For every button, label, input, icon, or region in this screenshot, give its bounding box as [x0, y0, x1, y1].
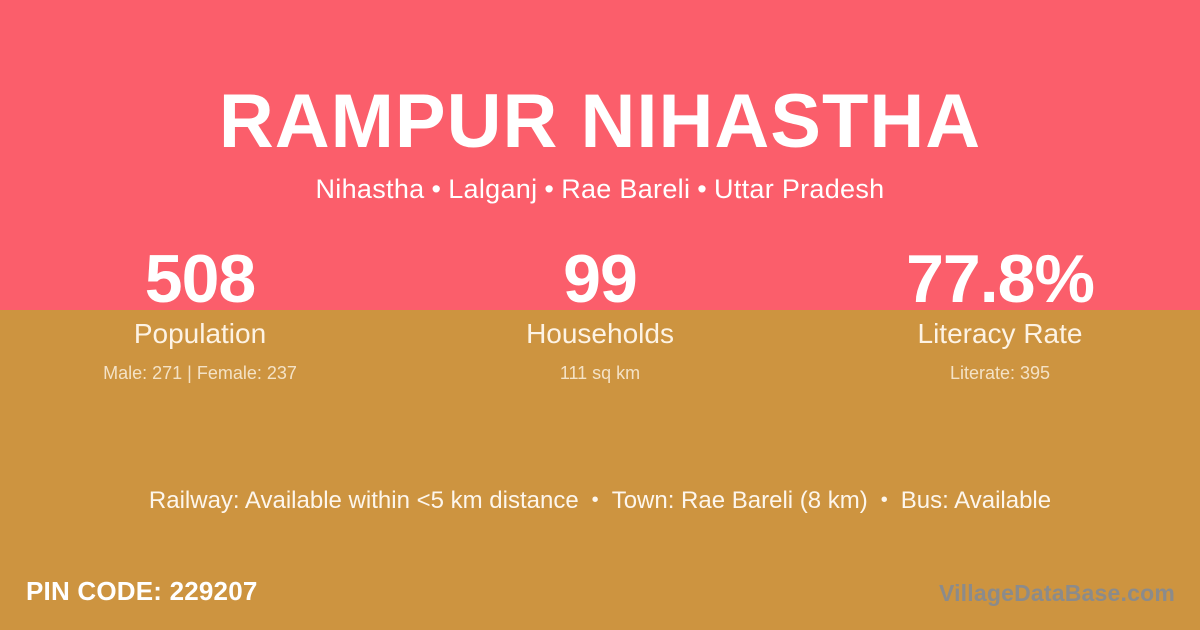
stat-label: Population: [0, 315, 400, 351]
footer: PIN CODE: 229207 VillageDataBase.com: [0, 572, 1200, 630]
site-brand: VillageDataBase.com: [939, 578, 1175, 608]
stat-label: Literacy Rate: [800, 315, 1200, 351]
stat-value: 99: [400, 243, 800, 315]
breadcrumb: Nihastha•Lalganj•Rae Bareli•Uttar Prades…: [0, 160, 1200, 203]
stat-subtext: 111 sq km: [400, 351, 800, 385]
breadcrumb-item-0: Nihastha: [316, 174, 425, 204]
stat-literacy-rate: 77.8% Literacy Rate Literate: 395: [800, 243, 1200, 385]
stats-row: 508 Population Male: 271 | Female: 237 9…: [0, 243, 1200, 385]
stat-value: 508: [0, 243, 400, 315]
bullet-icon: •: [579, 489, 612, 511]
village-info-card: RAMPUR NIHASTHA Nihastha•Lalganj•Rae Bar…: [0, 0, 1200, 630]
bullet-icon: •: [690, 174, 714, 204]
header: RAMPUR NIHASTHA Nihastha•Lalganj•Rae Bar…: [0, 0, 1200, 203]
amenity-bus: Bus: Available: [901, 487, 1051, 514]
amenity-town: Town: Rae Bareli (8 km): [612, 487, 868, 514]
stat-label: Households: [400, 315, 800, 351]
stat-households: 99 Households 111 sq km: [400, 243, 800, 385]
breadcrumb-item-2: Rae Bareli: [561, 174, 690, 204]
stat-value: 77.8%: [800, 243, 1200, 315]
bullet-icon: •: [537, 174, 561, 204]
page-title: RAMPUR NIHASTHA: [0, 0, 1200, 160]
breadcrumb-item-3: Uttar Pradesh: [714, 174, 884, 204]
bullet-icon: •: [868, 489, 901, 511]
amenity-railway: Railway: Available within <5 km distance: [149, 487, 579, 514]
breadcrumb-item-1: Lalganj: [448, 174, 537, 204]
pin-code: PIN CODE: 229207: [26, 574, 258, 608]
bullet-icon: •: [424, 174, 448, 204]
stat-population: 508 Population Male: 271 | Female: 237: [0, 243, 400, 385]
stat-subtext: Male: 271 | Female: 237: [0, 351, 400, 385]
stat-subtext: Literate: 395: [800, 351, 1200, 385]
amenities-line: Railway: Available within <5 km distance…: [0, 486, 1200, 517]
